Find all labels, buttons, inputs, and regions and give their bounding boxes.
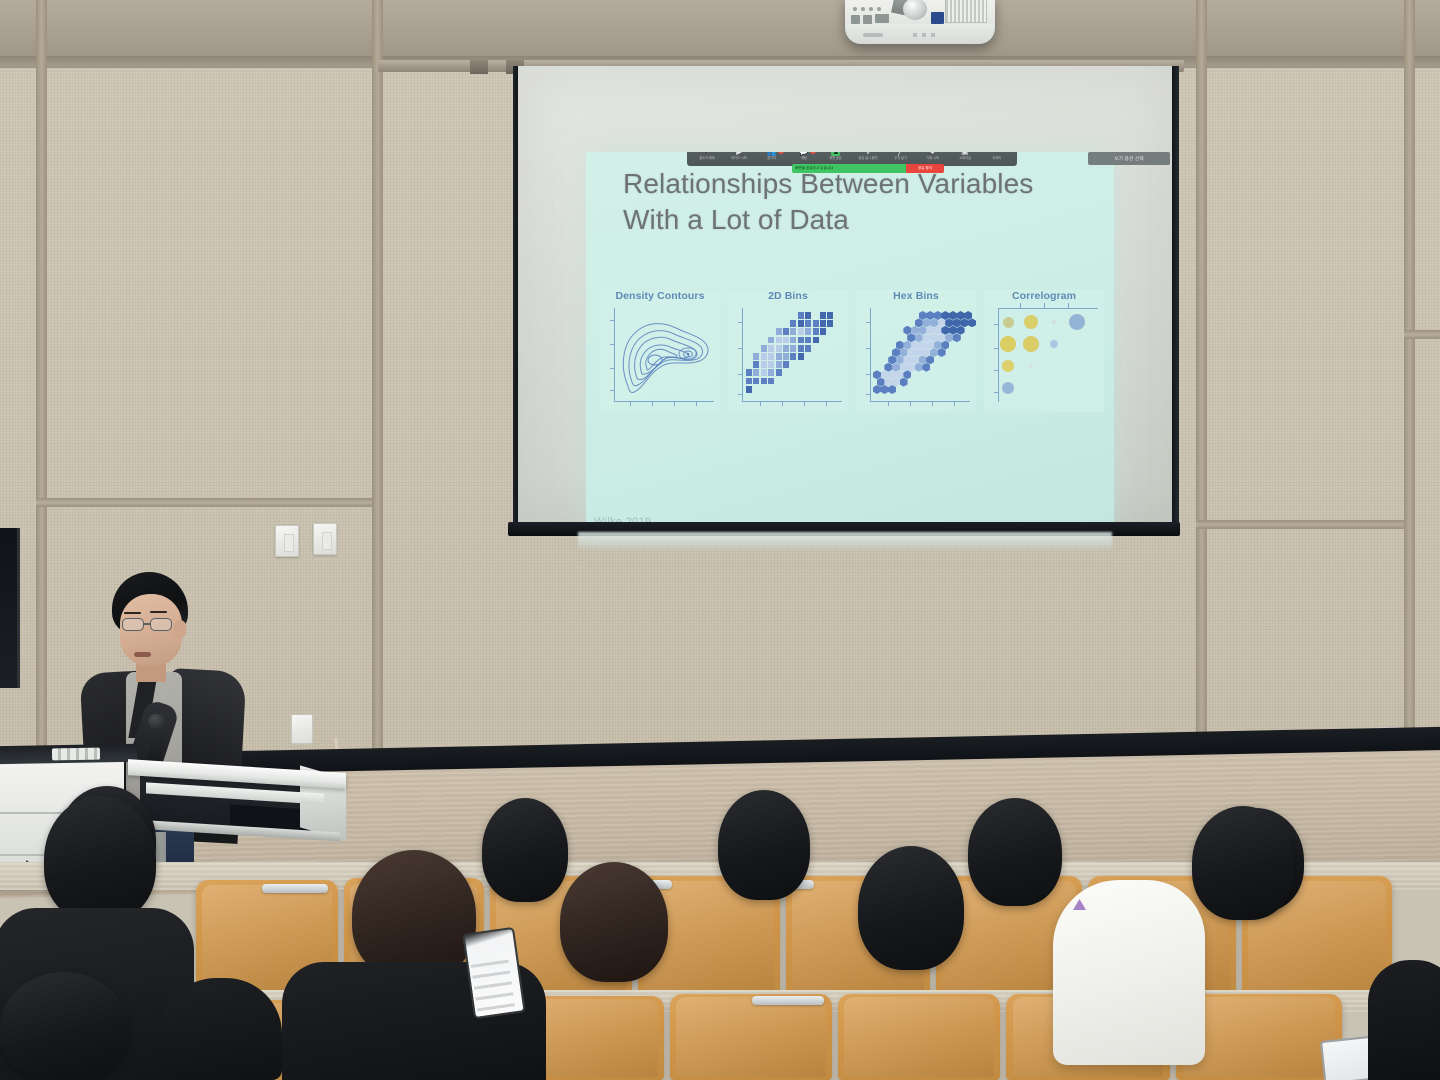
bin-cell [783,328,789,335]
hex-cell [926,311,934,320]
zoom-toolbar-participants[interactable]: 👥1참가자 [755,152,787,161]
mouth [134,652,151,657]
hex-cell [953,333,961,342]
hex-cell [888,385,896,394]
hex-cell [903,355,911,364]
eyeglasses-icon [122,618,144,631]
bin-cell [805,337,811,344]
bin-cell [790,345,796,352]
wall-panel-seam [36,0,47,868]
hex-cell [915,363,923,372]
bin-cell [805,320,811,327]
correlogram-cells [998,308,1098,402]
hex-cell [957,326,965,335]
hex-cell [907,363,915,372]
figure-caption: 2D Bins [728,290,848,302]
hex-cell [915,348,923,357]
zoom-toolbar-label: 자세히 [993,157,1002,160]
hex-cell [930,318,938,327]
bin-cell [790,328,796,335]
hex-cell [941,341,949,350]
zoom-toolbar-label: 채팅 [801,157,807,160]
hex-cell [896,370,904,379]
hex-cell [919,311,927,320]
bin-cell [768,345,774,352]
bin-cell [746,386,752,393]
zoom-toolbar-label: 소회의실 [959,157,971,160]
hex-cell [957,311,965,320]
hex-cell [900,363,908,372]
correlogram-circle [1002,360,1014,372]
bin-cell [805,312,811,319]
zoom-toolbar-record[interactable]: ●기록 시작 [916,152,948,161]
hex-cell [900,378,908,387]
bin-cell [820,328,826,335]
figure-2d-bins: 2D Bins [728,290,848,412]
hex-cell [907,348,915,357]
bin-cell [746,378,752,385]
bin-cell [768,337,774,344]
hex-cell [964,311,972,320]
lecture-hall-photo: Relationships Between Variables With a L… [0,0,1440,1080]
zoom-toolbar-pause[interactable]: ‖공유 일시 중지 [852,152,884,161]
slide-title-line2: With a Lot of Data [623,202,1083,238]
audience-shoulders [1368,960,1440,1080]
bin-cell [768,369,774,376]
bin-cell [753,353,759,360]
screen-bracket [470,60,488,74]
plot-axes [742,308,842,402]
bin-cell [790,320,796,327]
figure-caption: Hex Bins [856,290,976,302]
bin-cell [798,312,804,319]
light-switch-plate[interactable] [275,525,299,557]
hex-cell [960,318,968,327]
bin-cell [753,369,759,376]
bin-cell [776,337,782,344]
zoom-toolbar-label: 참가자 [767,157,776,160]
correlogram-circle [1024,315,1038,329]
seat [670,994,832,1080]
hex-cell [907,333,915,342]
black-cap [160,978,282,1080]
plot-axes [614,308,714,402]
zoom-toolbar-label: 기록 시작 [926,157,938,160]
figure-density-contours: Density Contours [600,290,720,412]
hex-cell [915,318,923,327]
seat-rail [752,996,824,1005]
correlogram-circle [1000,336,1016,352]
audience-head [560,862,668,982]
audience-head [968,798,1062,906]
bin-cell [798,328,804,335]
bin-cell [768,378,774,385]
correlogram-circle [1003,317,1014,328]
hex-cell [919,355,927,364]
eyeglasses-bridge [143,623,151,625]
bin-cell [761,353,767,360]
slide-title: Relationships Between Variables With a L… [623,166,1083,237]
hex-cell [896,355,904,364]
bin-cell [761,369,767,376]
light-switch-plate[interactable] [313,523,337,555]
zoom-toolbar-chat[interactable]: 💬3채팅 [788,152,820,161]
hex-cell [930,348,938,357]
notification-badge: 1 [778,152,784,154]
hex-cell [888,355,896,364]
bin-cell [783,361,789,368]
bin-cell [753,361,759,368]
hex-cell [903,326,911,335]
audience-head [44,796,156,922]
zoom-toolbar-label: 음소거 해제 [699,157,714,160]
seat-rail [262,884,328,893]
binned-cells [746,312,842,400]
hex-cell [930,333,938,342]
projector-vga-port-icon [931,12,944,24]
hex-cell [873,370,881,379]
projector-vent-icon [945,0,987,23]
hex-cell [934,311,942,320]
figure-caption: Density Contours [600,290,720,302]
zoom-toolbar-breakout[interactable]: ▣소회의실 [949,152,981,161]
bin-cell [805,345,811,352]
hex-cell [926,341,934,350]
bin-cell [768,353,774,360]
hex-cell [873,385,881,394]
correlogram-circle [1029,364,1033,368]
hex-cell [919,326,927,335]
hex-cell [919,341,927,350]
plot-axes [870,308,970,402]
hex-cell [915,333,923,342]
bin-cell [776,369,782,376]
smartphone-screen-content [471,960,515,1013]
seat [838,994,1000,1080]
zoom-toolbar-share-screen[interactable]: ▲화면 공유 [820,152,852,161]
bin-cell [776,353,782,360]
bin-cell [798,345,804,352]
bin-cell [753,378,759,385]
bin-cell [746,369,752,376]
hex-cell [888,370,896,379]
zoom-toolbar-label: 화면 공유 [830,157,842,160]
hex-cell [922,363,930,372]
stop-share-label: 공유 중지 [918,166,932,171]
bin-cell [761,361,767,368]
bin-cell [790,353,796,360]
audience-head [482,798,568,902]
plot-axes [998,308,1098,402]
correlogram-circle [1069,314,1085,330]
bin-cell [776,361,782,368]
hex-cell [941,326,949,335]
hex-cell [900,348,908,357]
zoom-toolbar-label: 비디오 시작 [732,157,747,160]
audience-head [1192,806,1294,920]
hex-cells [873,311,970,400]
hex-cell [941,311,949,320]
bin-cell [783,337,789,344]
hex-cell [896,341,904,350]
hex-cell [911,355,919,364]
hex-cell [911,326,919,335]
zoom-toolbar-more[interactable]: ⋯자세히 [981,152,1013,161]
view-options-label: 보기 옵션 선택 [1114,156,1144,162]
stop-share-button[interactable]: 공유 중지 [906,164,944,173]
bin-cell [783,353,789,360]
bin-cell [798,320,804,327]
av-controls[interactable] [52,748,100,761]
projector-lens-icon [903,0,927,20]
bin-cell [761,378,767,385]
hex-cell [903,341,911,350]
hex-cell [922,333,930,342]
bin-cell [820,320,826,327]
hex-cell [881,385,889,394]
hex-cell [922,348,930,357]
correlogram-circle [1050,340,1058,348]
projector-status-leds-icon [913,33,939,37]
slide-figure-row: Density Contours [600,290,1104,412]
bin-cell [827,312,833,319]
hex-cell [934,341,942,350]
audience-head [352,850,476,980]
figure-caption: Correlogram [984,290,1104,302]
audience-head [0,972,128,1080]
hex-cell [884,378,892,387]
hex-cell [953,318,961,327]
bin-cell [813,328,819,335]
wall-panel-seam [1196,0,1207,806]
zoom-toolbar-video-camera[interactable]: ▶비디오 시작 [723,152,755,161]
hex-cell [881,370,889,379]
zoom-toolbar-label: 공유 일시 중지 [859,157,878,160]
share-banner-label: 화면을 공유하고 있습니다 [795,166,833,171]
wall-outlet [291,714,313,744]
projected-slide: Relationships Between Variables With a L… [586,152,1114,530]
audience-head [858,846,964,970]
hex-cell [934,326,942,335]
bin-cell [761,345,767,352]
wall-panel-seam [36,498,372,507]
hex-cell [892,363,900,372]
bin-cell [820,312,826,319]
wall-panel-seam [372,0,383,790]
bin-cell [813,320,819,327]
hex-cell [922,318,930,327]
view-options-button[interactable]: 보기 옵션 선택 [1088,152,1170,165]
notification-badge: 3 [810,152,816,154]
zoom-toolbar-annotate[interactable]: ╱주석 달기 [884,152,916,161]
hex-cell [892,348,900,357]
wall-panel-seam [1196,520,1404,529]
correlogram-circle [1002,382,1015,395]
hex-cell [892,378,900,387]
hex-cell [945,333,953,342]
correlogram-circle [1052,320,1055,323]
bin-cell [798,353,804,360]
hex-cell [877,378,885,387]
eyeglasses-icon [150,618,172,631]
audience-head [718,790,810,900]
hex-cell [938,348,946,357]
wall-monitor [0,528,20,688]
hex-cell [968,318,976,327]
ceiling-projector [845,0,995,44]
hex-cell [938,333,946,342]
wall-panel-seam [1404,330,1440,339]
hex-cell [903,370,911,379]
bin-cell [776,345,782,352]
bin-cell [768,361,774,368]
zoom-toolbar-label: 주석 달기 [894,157,906,160]
bin-cell [783,345,789,352]
hex-cell [911,341,919,350]
bin-cell [805,328,811,335]
bin-cell [790,337,796,344]
wall-panel-seam [1404,0,1415,826]
hex-cell [949,326,957,335]
bin-cell [776,328,782,335]
hex-cell [938,318,946,327]
bin-cell [813,337,819,344]
hex-cell [945,318,953,327]
zoom-toolbar-microphone[interactable]: 🎤음소거 해제 [691,152,723,161]
hex-cell [926,326,934,335]
hex-cell [884,363,892,372]
hex-cell [949,311,957,320]
correlogram-circle [1023,336,1039,352]
bin-cell [798,337,804,344]
projector-body [847,24,993,44]
contour-paths [614,308,714,402]
bin-cell [827,320,833,327]
figure-hex-bins: Hex Bins [856,290,976,412]
ear [174,620,186,638]
screen-light-spill [578,532,1112,550]
hex-cell [926,355,934,364]
figure-correlogram: Correlogram [984,290,1104,412]
